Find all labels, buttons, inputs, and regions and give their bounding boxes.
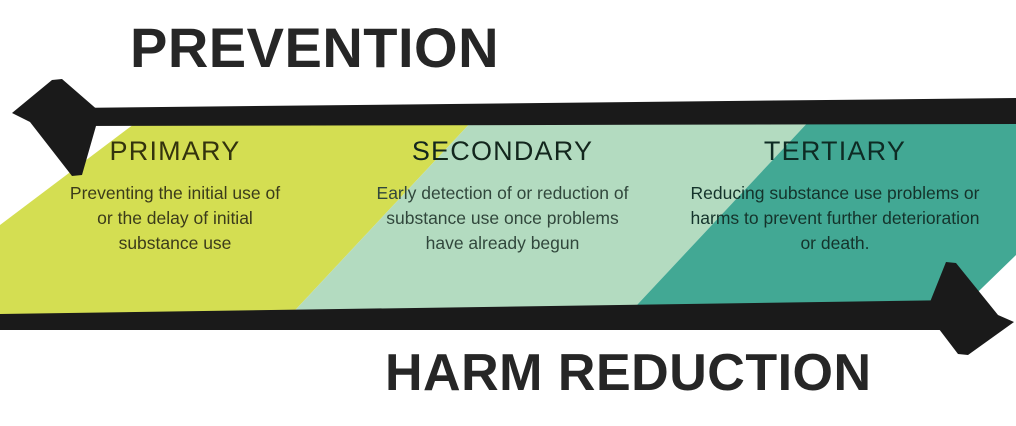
prevention-title: PREVENTION <box>130 18 499 78</box>
band-primary-description: Preventing the initial use of or the del… <box>60 181 290 256</box>
band-secondary-title: SECONDARY <box>370 136 635 167</box>
harm-reduction-title: HARM REDUCTION <box>385 345 872 401</box>
band-primary-title: PRIMARY <box>60 136 290 167</box>
band-tertiary-title: TERTIARY <box>690 136 980 167</box>
band-secondary: SECONDARY Early detection of or reductio… <box>370 136 635 256</box>
band-tertiary-description: Reducing substance use problems or harms… <box>690 181 980 256</box>
band-tertiary: TERTIARY Reducing substance use problems… <box>690 136 980 256</box>
prevention-arrow-shaft <box>70 98 1016 126</box>
band-secondary-description: Early detection of or reduction of subst… <box>370 181 635 256</box>
prevention-harm-reduction-diagram: PREVENTION HARM REDUCTION PRIMARY Preven… <box>0 0 1016 426</box>
band-primary: PRIMARY Preventing the initial use of or… <box>60 136 290 256</box>
